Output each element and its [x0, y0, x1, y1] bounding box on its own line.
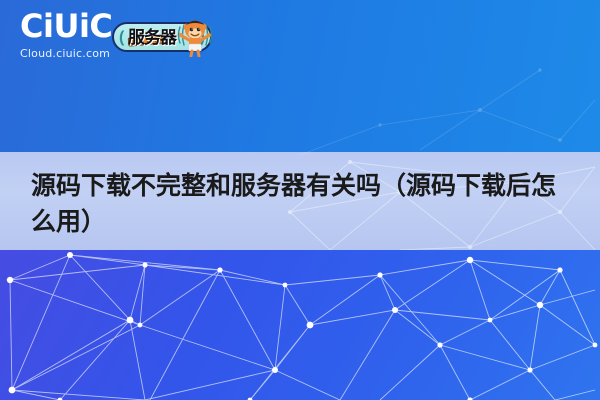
badge-paren-left: (: [119, 28, 124, 48]
logo-wordmark: CiUiC: [20, 10, 116, 42]
badge-label: 服务器: [128, 28, 176, 48]
banner-image: CiUiC Cloud.ciuic.com ( ) 服务器: [0, 0, 600, 400]
monkey-mascot-icon: [176, 13, 214, 57]
headline-title: 源码下载不完整和服务器有关吗（源码下载后怎么用）: [31, 168, 576, 240]
logo-domain: Cloud.ciuic.com: [20, 47, 116, 60]
site-logo[interactable]: CiUiC Cloud.ciuic.com: [20, 10, 116, 60]
